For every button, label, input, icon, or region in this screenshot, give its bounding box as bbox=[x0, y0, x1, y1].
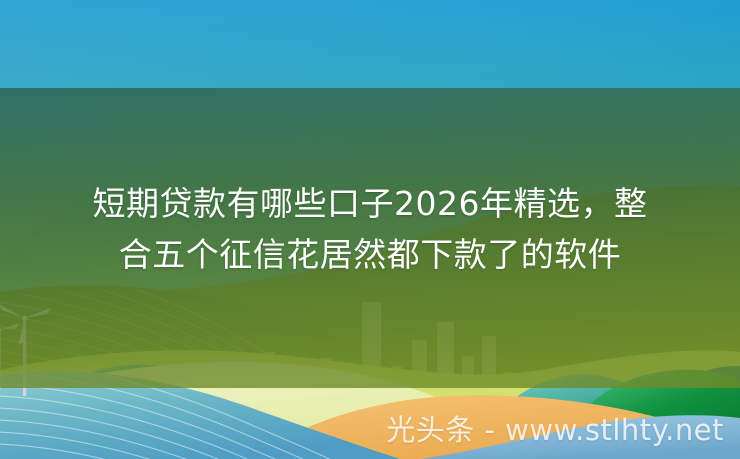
title-overlay-band bbox=[0, 88, 740, 388]
background-artwork bbox=[0, 0, 740, 459]
cover-image: 短期贷款有哪些口子2026年精选，整 合五个征信花居然都下款了的软件 光头条 -… bbox=[0, 0, 740, 459]
